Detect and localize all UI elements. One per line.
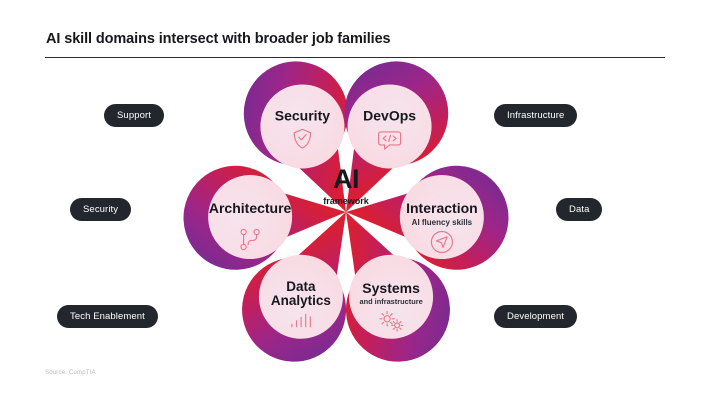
source-attribution: Source: CompTIA xyxy=(45,370,96,376)
pill-label: Tech Enablement xyxy=(70,311,145,322)
pill-label: Support xyxy=(117,110,151,121)
page-title: AI skill domains intersect with broader … xyxy=(46,31,391,47)
petal-label-security: Security xyxy=(275,107,330,123)
petal-label-analytics: Analytics xyxy=(271,293,331,308)
petal-label-devops: DevOps xyxy=(363,107,416,123)
job-family-pill-security[interactable]: Security xyxy=(70,198,131,221)
petal-sublabel-systems: and infrastructure xyxy=(359,297,422,306)
diagram-svg: Security DevOps xyxy=(176,62,516,362)
petal-label-architecture: Architecture xyxy=(209,200,292,216)
ai-framework-diagram: Security DevOps xyxy=(176,62,516,362)
pill-label: Security xyxy=(83,204,118,215)
job-family-pill-tech-enablement[interactable]: Tech Enablement xyxy=(57,305,158,328)
petal-label-systems: Systems xyxy=(362,280,420,296)
petal-label-interaction: Interaction xyxy=(406,200,478,216)
pill-label: Data xyxy=(569,204,589,215)
slide-canvas: AI skill domains intersect with broader … xyxy=(0,0,720,405)
petal-sublabel-interaction: AI fluency skills xyxy=(412,218,473,227)
title-divider xyxy=(45,57,665,58)
job-family-pill-support[interactable]: Support xyxy=(104,104,164,127)
petals-group: Security DevOps xyxy=(181,43,511,380)
job-family-pill-data[interactable]: Data xyxy=(556,198,602,221)
petal-label-data: Data xyxy=(286,279,316,294)
